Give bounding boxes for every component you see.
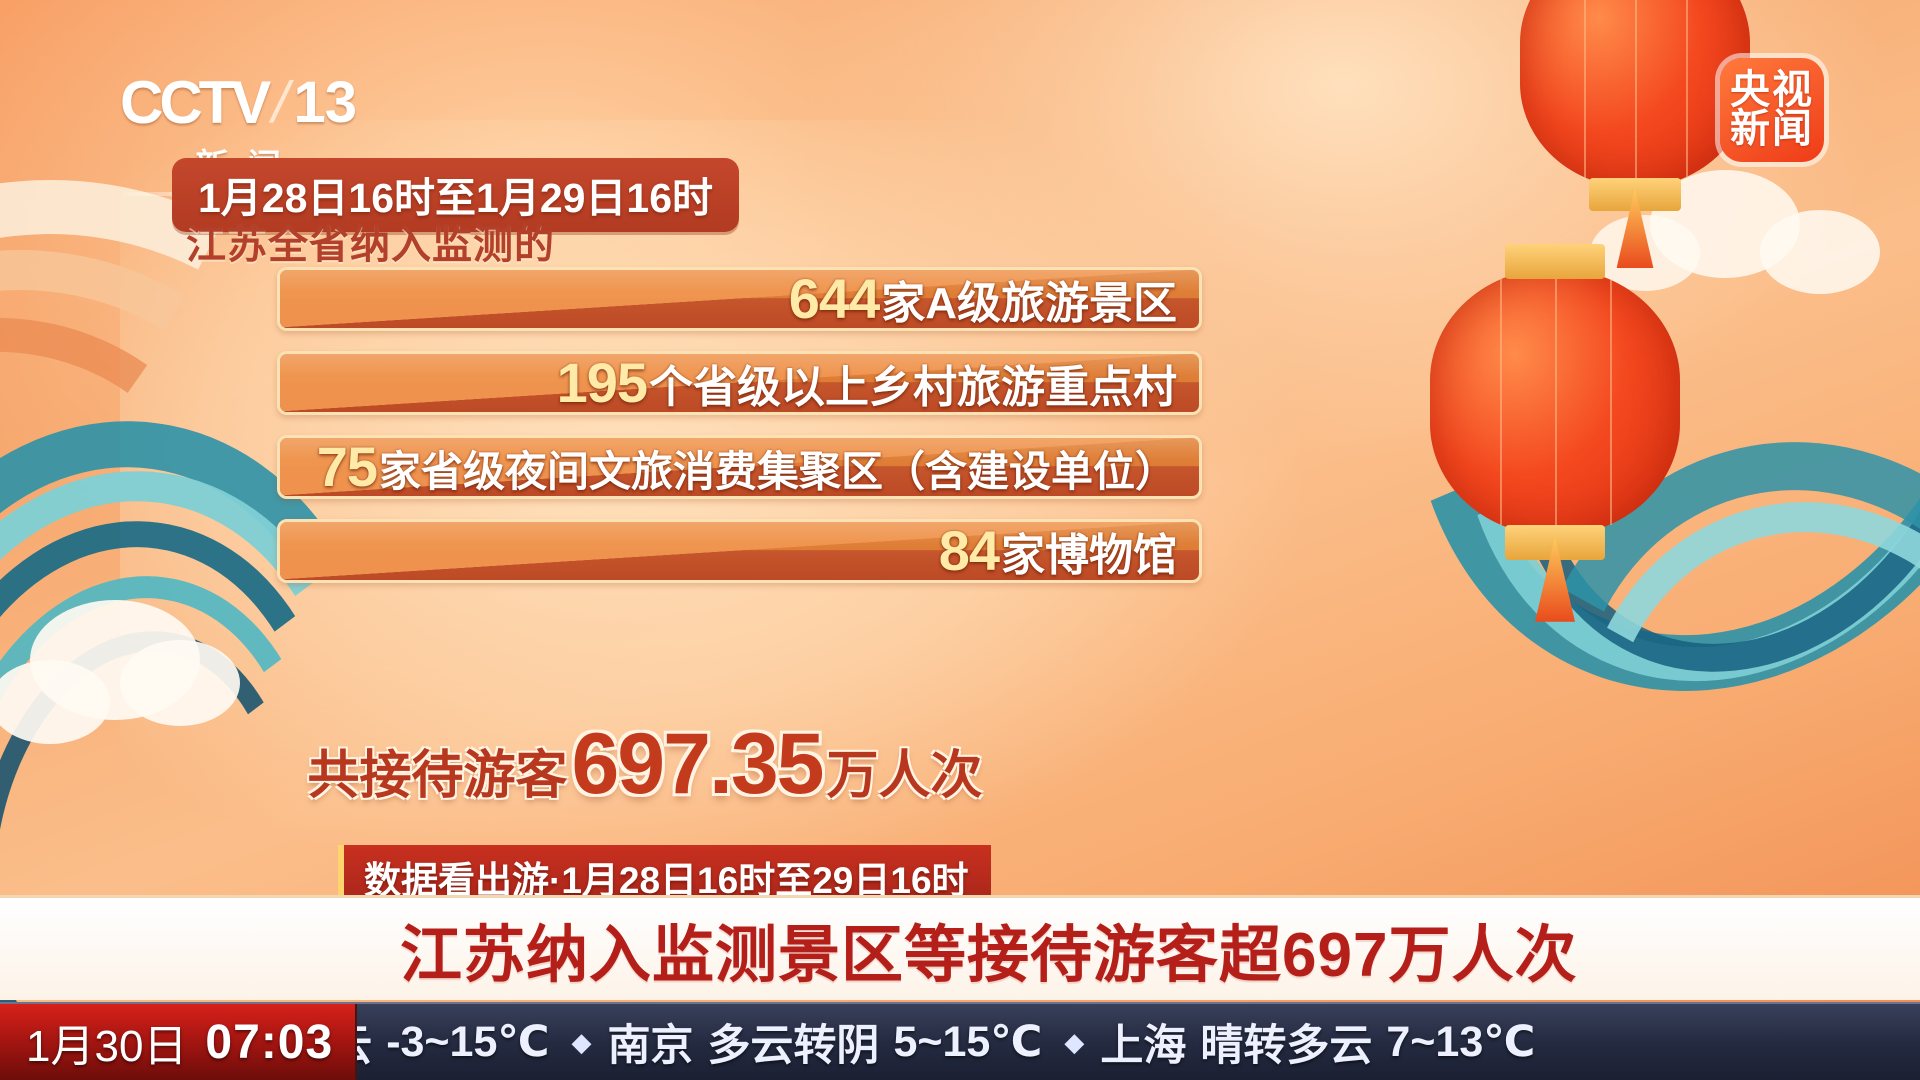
stat-bar: 84 家博物馆	[277, 519, 1202, 583]
bottom-ticker: 1月30日 07:03 云 -3~15℃ ◆ 南京 多云转阴 5~15℃ ◆ 上…	[0, 1002, 1920, 1080]
stat-label: 家博物馆	[1001, 534, 1177, 578]
stat-number: 644	[789, 271, 879, 327]
watermark-line-2: 新闻	[1730, 110, 1814, 149]
weather-condition: 多云转阴	[707, 1011, 879, 1073]
weather-separator-icon: ◆	[1064, 1027, 1084, 1058]
stat-number: 195	[557, 355, 647, 411]
infographic-intro-text: 江苏全省纳入监测的	[186, 212, 555, 270]
weather-condition: 云	[357, 1011, 372, 1073]
total-suffix: 万人次	[827, 750, 983, 802]
total-prefix: 共接待游客	[307, 750, 567, 802]
cctv-news-watermark: 央视 新闻	[1720, 58, 1824, 162]
weather-city: 上海	[1100, 1011, 1186, 1073]
weather-city: 南京	[607, 1011, 693, 1073]
broadcast-frame: CCTV / 13 新闻 央视 新闻 1月28日16时至1月29日16时 江苏全…	[0, 0, 1920, 1080]
stat-number: 84	[939, 523, 999, 579]
weather-condition: 晴转多云	[1200, 1011, 1372, 1073]
channel-logo-number: 13	[293, 69, 356, 136]
stat-number: 75	[317, 439, 377, 495]
stat-label: 家A级旅游景区	[881, 282, 1177, 326]
channel-logo-slash-icon: /	[266, 69, 296, 136]
stat-bar: 644 家A级旅游景区	[277, 267, 1202, 331]
stat-bar: 195 个省级以上乡村旅游重点村	[277, 351, 1202, 415]
ticker-weather-strip: 云 -3~15℃ ◆ 南京 多云转阴 5~15℃ ◆ 上海 晴转多云 7~13℃	[357, 1011, 1920, 1073]
ticker-clock: 07:03	[205, 1015, 333, 1070]
weather-item: 南京 多云转阴 5~15℃	[607, 1011, 1042, 1073]
headline-text: 江苏纳入监测景区等接待游客超697万人次	[400, 904, 1577, 994]
weather-item: 上海 晴转多云 7~13℃	[1100, 1011, 1535, 1073]
stat-bar-list: 644 家A级旅游景区 195 个省级以上乡村旅游重点村 75 家省级夜间文旅消…	[277, 267, 1202, 603]
channel-logo-word: CCTV	[120, 68, 267, 137]
headline-bar: 江苏纳入监测景区等接待游客超697万人次	[0, 895, 1920, 1000]
weather-separator-icon: ◆	[571, 1027, 591, 1058]
stat-bar: 75 家省级夜间文旅消费集聚区（含建设单位）	[277, 435, 1202, 499]
total-visitors-line: 共接待游客 697.35 万人次	[0, 724, 1290, 806]
weather-temp: 7~13℃	[1386, 1017, 1535, 1067]
stat-label: 个省级以上乡村旅游重点村	[649, 366, 1177, 410]
decor-ticker-fan-icon	[88, 1002, 208, 1080]
weather-item: 云 -3~15℃	[357, 1011, 549, 1073]
stat-label: 家省级夜间文旅消费集聚区（含建设单位）	[379, 451, 1177, 493]
watermark-line-1: 央视	[1730, 71, 1814, 110]
total-number: 697.35	[571, 724, 822, 806]
weather-temp: -3~15℃	[386, 1017, 549, 1067]
weather-temp: 5~15℃	[893, 1017, 1042, 1067]
